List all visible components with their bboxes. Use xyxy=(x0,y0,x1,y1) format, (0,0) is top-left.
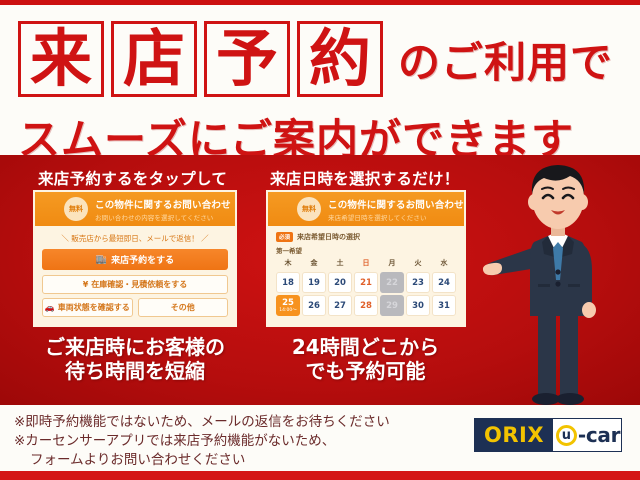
mock-header-title-right: この物件に関するお問い合わせ xyxy=(328,197,464,211)
footer-section: ※即時予約機能ではないため、メールの返信をお待ちください ※カーセンサーアプリで… xyxy=(0,405,640,471)
left-panel-title: 来店予約するをタップして xyxy=(38,167,227,189)
yen-icon: ¥ xyxy=(83,280,89,289)
calendar-day-number: 18 xyxy=(282,278,294,288)
footer-note-1: ※即時予約機能ではないため、メールの返信をお待ちください xyxy=(14,413,390,432)
calendar-day-cell: 22 xyxy=(380,272,404,293)
secondary-button-row: 🚗 車両状態を確認する その他 xyxy=(42,298,228,317)
calendar-day-time: 14:00〜 xyxy=(279,309,296,314)
mock-header-title-left: この物件に関するお問い合わせ xyxy=(95,197,231,211)
calendar-day-number: 26 xyxy=(308,301,320,311)
calendar-day-number: 21 xyxy=(360,278,372,288)
salesman-illustration xyxy=(482,150,634,408)
calendar-weekday: 金 xyxy=(302,258,326,270)
kanji-box-2: 店 xyxy=(111,21,197,97)
vehicle-condition-label: 車両状態を確認する xyxy=(58,302,130,313)
right-benefit-caption: 24時間どこから でも予約可能 xyxy=(258,335,473,384)
calendar-day-number: 29 xyxy=(386,301,398,311)
right-benefit-line-1: 24時間どこから xyxy=(258,335,473,359)
left-benefit-caption: ご来店時にお客様の 待ち時間を短縮 xyxy=(20,335,250,384)
preference-label: 第一希望 xyxy=(276,245,456,255)
calendar-mockup: 無料 この物件に関するお問い合わせ 来店希望日時を選択してください 必須 来店希… xyxy=(266,190,466,327)
calendar-day-cell[interactable]: 19 xyxy=(302,272,326,293)
kanji-box-3: 予 xyxy=(204,21,290,97)
headline-section: 来 店 予 約 のご利用で スムーズにご案内ができます xyxy=(0,5,640,155)
inquiry-form-mockup: 無料 この物件に関するお問い合わせ お問い合わせの内容を選択してください ＼ 販… xyxy=(33,190,237,327)
reserve-visit-label: 来店予約をする xyxy=(111,253,174,266)
footer-note-3: フォームよりお問い合わせください xyxy=(14,451,390,470)
mock-header-right: 無料 この物件に関するお問い合わせ 来店希望日時を選択してください xyxy=(268,192,464,226)
ucar-text: -car xyxy=(578,423,620,447)
calendar-weekday: 土 xyxy=(328,258,352,270)
calendar-day-number: 22 xyxy=(386,278,398,288)
mock-header-sub-right: 来店希望日時を選択してください xyxy=(328,212,464,222)
calendar-day-cell[interactable]: 2514:00〜 xyxy=(276,295,300,316)
calendar-day-number: 25 xyxy=(282,298,294,308)
calendar-day-number: 31 xyxy=(438,301,450,311)
right-benefit-line-2: でも予約可能 xyxy=(258,359,473,383)
other-label: その他 xyxy=(171,302,195,313)
calendar-grid[interactable]: 木金土日月火水181920212223242514:00〜26272829303… xyxy=(276,258,456,316)
right-panel-title: 来店日時を選択するだけ！ xyxy=(270,167,460,189)
stock-quote-label: 在庫確認・見積依頼をする xyxy=(91,279,187,290)
orix-wordmark: ORIX xyxy=(475,419,553,451)
calendar-day-cell[interactable]: 18 xyxy=(276,272,300,293)
calendar-day-number: 23 xyxy=(412,278,424,288)
calendar-weekday: 木 xyxy=(276,258,300,270)
orix-ucar-logo: ORIX u -car xyxy=(474,418,622,452)
calendar-day-cell[interactable]: 26 xyxy=(302,295,326,316)
headline-line-1: 来 店 予 約 のご利用で xyxy=(18,21,613,97)
u-circle-icon: u xyxy=(556,425,577,446)
calendar-day-cell[interactable]: 21 xyxy=(354,272,378,293)
advertisement-banner: 来 店 予 約 のご利用で スムーズにご案内ができます 来店予約するをタップして… xyxy=(0,0,640,480)
calendar-day-number: 19 xyxy=(308,278,320,288)
calendar-day-cell[interactable]: 31 xyxy=(432,295,456,316)
calendar-weekday: 日 xyxy=(354,258,378,270)
store-icon: 🏬 xyxy=(96,255,107,265)
calendar-day-number: 27 xyxy=(334,301,346,311)
calendar-day-cell[interactable]: 27 xyxy=(328,295,352,316)
calendar-day-cell[interactable]: 28 xyxy=(354,295,378,316)
calendar-weekday: 火 xyxy=(406,258,430,270)
calendar-day-number: 28 xyxy=(360,301,372,311)
footer-note-2: ※カーセンサーアプリでは来店予約機能がないため、 xyxy=(14,432,390,451)
calendar-body: 必須 来店希望日時の選択 第一希望 木金土日月火水181920212223242… xyxy=(268,226,464,316)
calendar-day-cell[interactable]: 24 xyxy=(432,272,456,293)
required-badge: 必須 xyxy=(276,232,293,242)
kanji-box-1: 来 xyxy=(18,21,104,97)
reply-notice-text: ＼ 販売店から最短即日、メールで返信！ ／ xyxy=(35,233,235,244)
free-badge-right: 無料 xyxy=(297,197,321,221)
left-benefit-line-2: 待ち時間を短縮 xyxy=(20,359,250,383)
footer-notes: ※即時予約機能ではないため、メールの返信をお待ちください ※カーセンサーアプリで… xyxy=(14,413,390,470)
kanji-box-4: 約 xyxy=(297,21,383,97)
calendar-weekday: 月 xyxy=(380,258,404,270)
stock-quote-button[interactable]: ¥ 在庫確認・見積依頼をする xyxy=(42,275,228,294)
calendar-section-label-text: 来店希望日時の選択 xyxy=(297,232,360,242)
mock-header-left: 無料 この物件に関するお問い合わせ お問い合わせの内容を選択してください xyxy=(35,192,235,226)
vehicle-condition-button[interactable]: 🚗 車両状態を確認する xyxy=(42,298,133,317)
other-button[interactable]: その他 xyxy=(138,298,229,317)
calendar-day-number: 24 xyxy=(438,278,450,288)
free-badge-left: 無料 xyxy=(64,197,88,221)
car-icon: 🚗 xyxy=(45,303,55,312)
mock-header-sub-left: お問い合わせの内容を選択してください xyxy=(95,212,231,222)
calendar-day-number: 30 xyxy=(412,301,424,311)
calendar-weekday: 水 xyxy=(432,258,456,270)
calendar-day-cell[interactable]: 23 xyxy=(406,272,430,293)
calendar-section-label: 必須 来店希望日時の選択 xyxy=(276,232,456,242)
calendar-day-cell[interactable]: 30 xyxy=(406,295,430,316)
headline-tail-text: のご利用で xyxy=(398,29,613,90)
ucar-wordmark: u -car xyxy=(553,419,621,451)
calendar-day-cell[interactable]: 20 xyxy=(328,272,352,293)
reserve-visit-button[interactable]: 🏬 来店予約をする xyxy=(42,249,228,270)
calendar-day-cell: 29 xyxy=(380,295,404,316)
bottom-red-rule xyxy=(0,471,640,480)
calendar-day-number: 20 xyxy=(334,278,346,288)
left-benefit-line-1: ご来店時にお客様の xyxy=(20,335,250,359)
